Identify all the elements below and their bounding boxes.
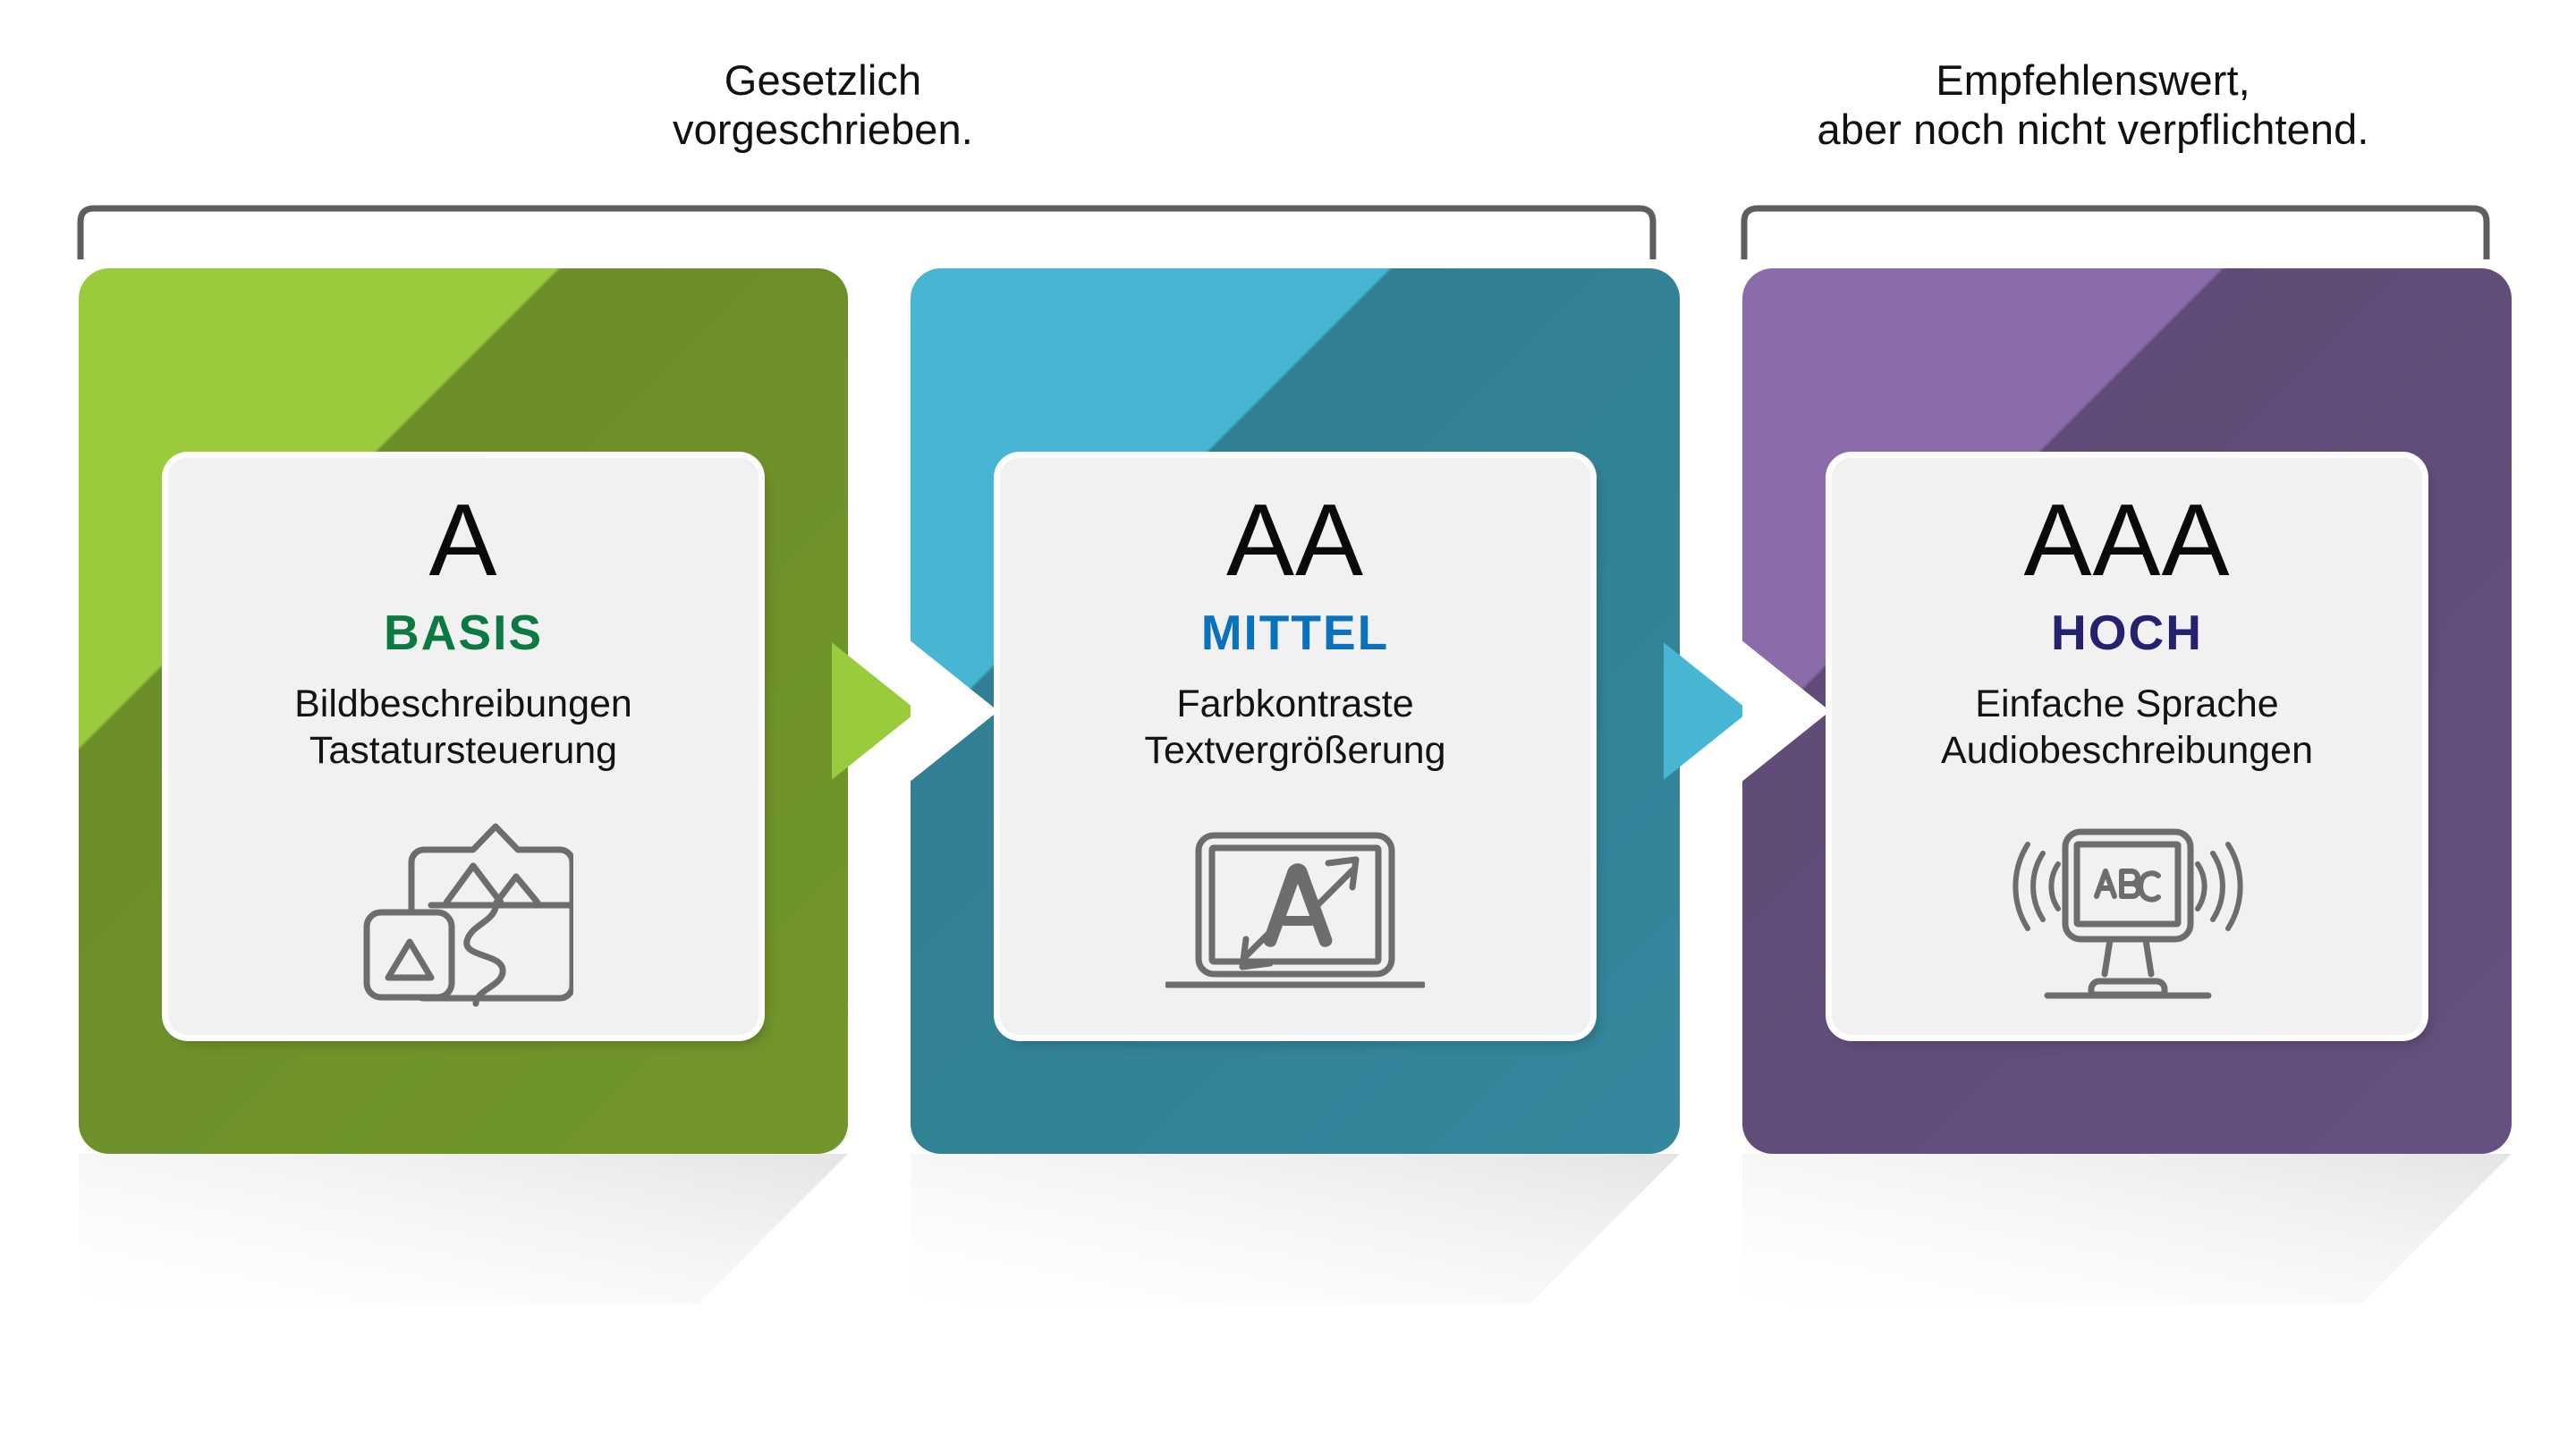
image-landscape-icon bbox=[168, 791, 758, 1035]
grade-label-hoch: AAA bbox=[2023, 490, 2230, 592]
features-hoch: Einfache Sprache Audiobeschreibungen bbox=[1941, 681, 2313, 775]
card-basis[interactable]: A BASIS Bildbeschreibungen Tastatursteue… bbox=[79, 268, 848, 1154]
bracket-recommended-path bbox=[1744, 208, 2487, 259]
features-mittel: Farbkontraste Textvergrößerung bbox=[1145, 681, 1446, 775]
tile-hoch: AAA HOCH Einfache Sprache Audiobeschreib… bbox=[1832, 458, 2422, 1035]
infographic-canvas: Gesetzlich vorgeschrieben. Empfehlenswer… bbox=[0, 0, 2576, 1449]
floor-shadow-bottom-layer bbox=[0, 1109, 2576, 1449]
grade-label-mittel: AA bbox=[1226, 490, 1364, 592]
bracket-caption-recommended: Empfehlenswert, aber noch nicht verpflic… bbox=[1574, 55, 2576, 155]
tile-basis: A BASIS Bildbeschreibungen Tastatursteue… bbox=[168, 458, 758, 1035]
card-mittel[interactable]: AA MITTEL Farbkontraste Textvergrößerung bbox=[911, 268, 1680, 1154]
features-basis: Bildbeschreibungen Tastatursteuerung bbox=[294, 681, 632, 775]
tile-mittel: AA MITTEL Farbkontraste Textvergrößerung bbox=[1000, 458, 1590, 1035]
grade-label-basis: A bbox=[428, 490, 497, 592]
level-label-basis: BASIS bbox=[384, 608, 543, 657]
card-hoch[interactable]: AAA HOCH Einfache Sprache Audiobeschreib… bbox=[1742, 268, 2512, 1154]
monitor-abc-audio-icon bbox=[1832, 791, 2422, 1035]
bracket-caption-legal: Gesetzlich vorgeschrieben. bbox=[501, 55, 1145, 155]
bracket-legal-path bbox=[80, 208, 1653, 259]
laptop-text-resize-icon bbox=[1000, 791, 1590, 1035]
level-label-mittel: MITTEL bbox=[1201, 608, 1390, 657]
level-label-hoch: HOCH bbox=[2051, 608, 2203, 657]
